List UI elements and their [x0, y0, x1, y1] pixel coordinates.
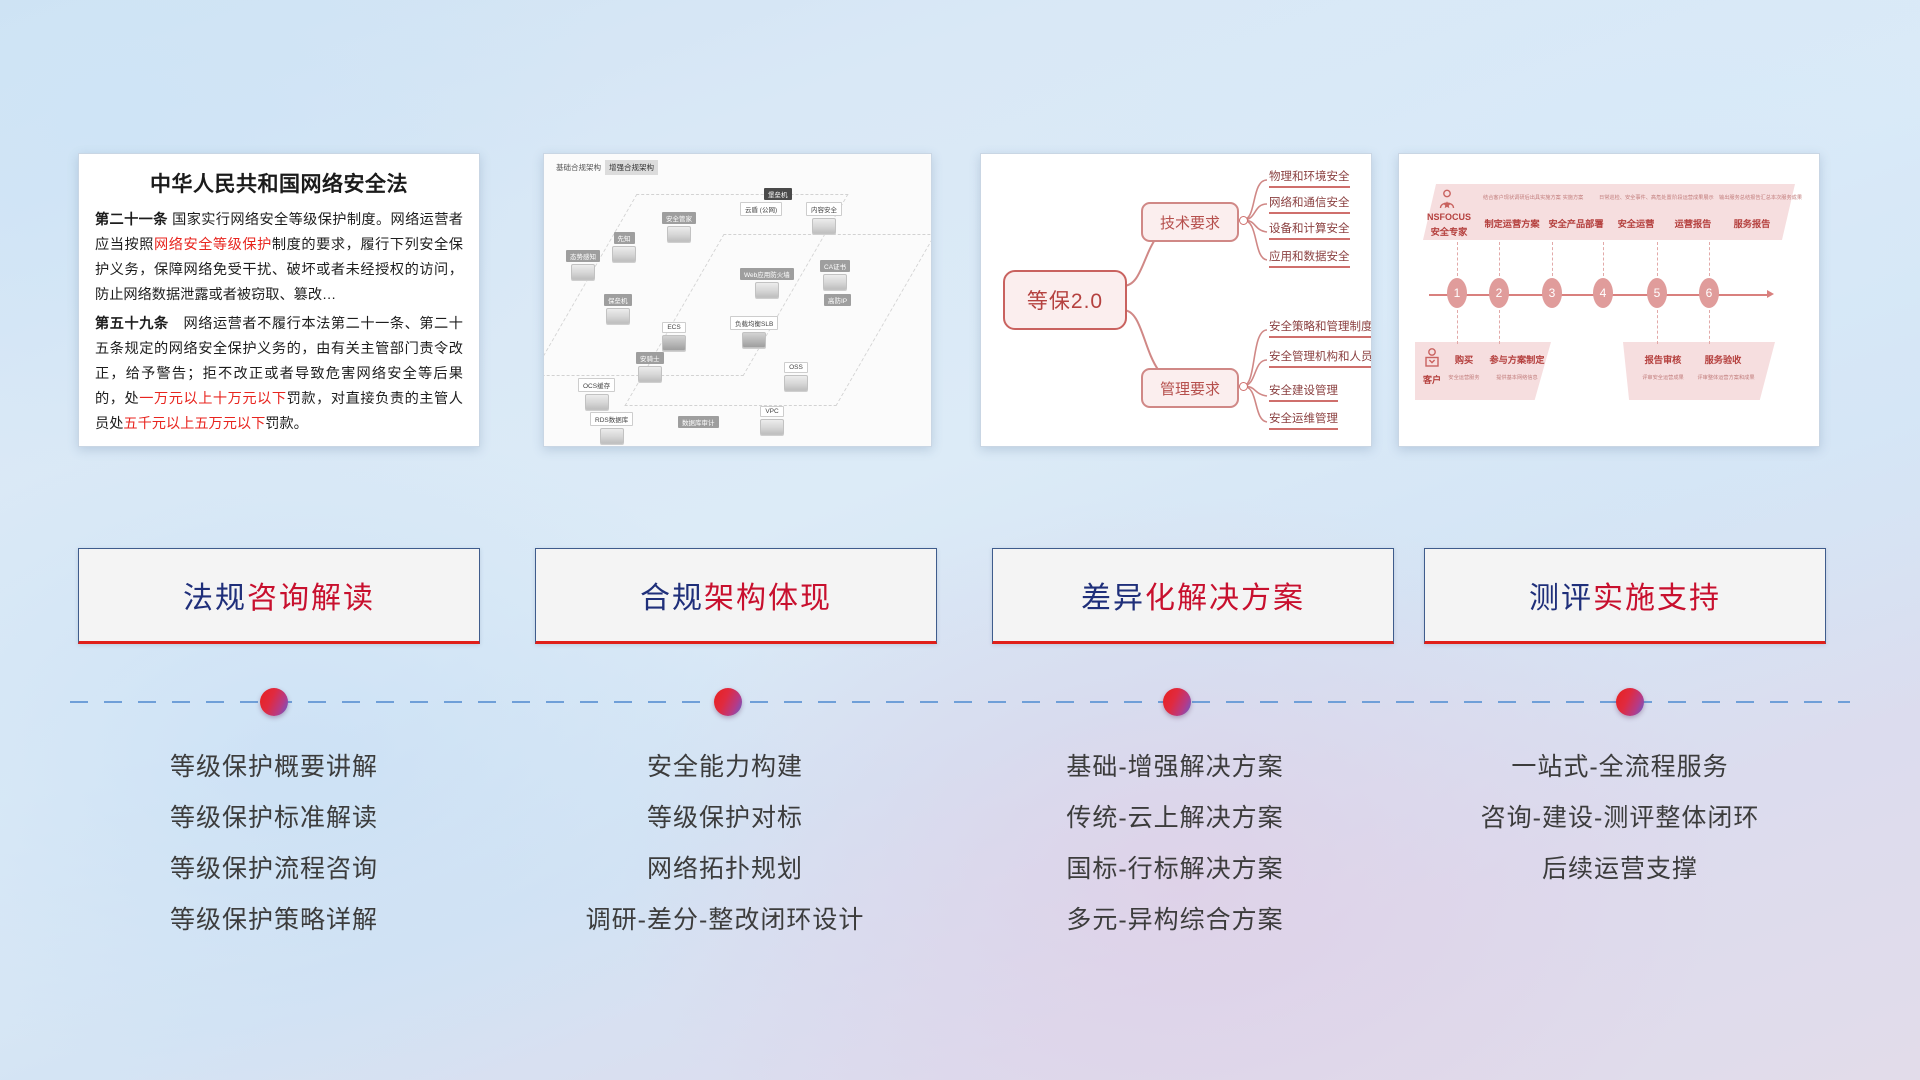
list-item: 后续运营支撑	[1400, 844, 1840, 895]
timeline-tick	[1457, 310, 1458, 344]
title-prefix: 法规	[183, 582, 247, 615]
law-article-59-highlight-2: 五千元以上五万元以下	[123, 416, 265, 432]
cube-icon	[638, 366, 662, 382]
arch-node-xianzhi: 先知	[612, 232, 636, 262]
section-title-label: 测评实施支持	[1529, 573, 1721, 617]
timeline-tick	[1499, 310, 1500, 344]
timeline-top-label: 服务报告	[1727, 216, 1777, 230]
timeline-top-label: 安全运营	[1611, 216, 1661, 230]
arch-node-ocs-cache: OCS缓存	[578, 378, 615, 410]
title-suffix: 实施支持	[1593, 582, 1721, 615]
list-item: 等级保护标准解读	[54, 793, 494, 844]
arch-node-waf: Web应用防火墙	[740, 268, 794, 298]
timeline-step-node: 6	[1699, 278, 1719, 308]
arch-node-bastion-top: 堡垒机	[764, 188, 792, 200]
arch-node-situation-awareness: 态势感知	[566, 250, 600, 280]
timeline-tick	[1552, 242, 1553, 276]
timeline-bottom-label: 服务验收	[1699, 352, 1747, 366]
timeline-tick	[1457, 242, 1458, 276]
section-title-label: 合规架构体现	[640, 573, 832, 617]
section-title-label: 法规咨询解读	[183, 573, 375, 617]
section-title-assessment-support[interactable]: 测评实施支持	[1424, 548, 1826, 644]
law-article-21-label: 第二十一条	[95, 212, 168, 228]
law-title: 中华人民共和国网络安全法	[95, 168, 463, 198]
timeline-top-sub: 结合客户现状调研后出具实施方案	[1483, 194, 1541, 201]
arch-node-cloud-shield: 云盾 (公网)	[740, 202, 782, 216]
list-item: 咨询-建设-测评整体闭环	[1400, 793, 1840, 844]
mindmap-leaf: 安全管理机构和人员	[1269, 348, 1372, 368]
title-suffix: 咨询解读	[247, 582, 375, 615]
section-title-label: 差异化解决方案	[1081, 573, 1305, 617]
timeline-tick	[1709, 242, 1710, 276]
item-list-regulation-consulting: 等级保护概要讲解 等级保护标准解读 等级保护流程咨询 等级保护策略详解	[54, 742, 494, 946]
timeline-top-label: 运营报告	[1669, 216, 1717, 230]
list-item: 安全能力构建	[505, 742, 945, 793]
timeline-bottom-label: 报告审核	[1639, 352, 1687, 366]
arch-node-security-butler: 安全管家	[662, 212, 696, 242]
item-list-differentiated-solution: 基础-增强解决方案 传统-云上解决方案 国标-行标解决方案 多元-异构综合方案	[955, 742, 1395, 946]
mindmap-branch-technical: 技术要求	[1141, 202, 1239, 242]
timeline-top-sub: 阶段运营成果展示	[1665, 194, 1721, 201]
timeline-tick	[1499, 242, 1500, 276]
image-card-row: 中华人民共和国网络安全法 第二十一条 国家实行网络安全等级保护制度。网络运营者应…	[0, 0, 1920, 460]
timeline-tick	[1603, 242, 1604, 276]
section-title-differentiated-solution[interactable]: 差异化解决方案	[992, 548, 1394, 644]
timeline-step-node: 4	[1593, 278, 1613, 308]
title-prefix: 差异	[1081, 582, 1145, 615]
cube-icon	[600, 428, 624, 444]
card-law-document: 中华人民共和国网络安全法 第二十一条 国家实行网络安全等级保护制度。网络运营者应…	[78, 153, 480, 447]
arch-node-anti-ddos: 高防IP	[824, 294, 851, 306]
mindmap-leaf: 网络和通信安全	[1269, 194, 1350, 214]
slide-canvas: 中华人民共和国网络安全法 第二十一条 国家实行网络安全等级保护制度。网络运营者应…	[0, 0, 1920, 1080]
arch-node-slb: 负载均衡SLB	[730, 316, 778, 348]
list-item: 国标-行标解决方案	[955, 844, 1395, 895]
law-article-21: 第二十一条 国家实行网络安全等级保护制度。网络运营者应当按照网络安全等级保护制度…	[95, 208, 463, 308]
title-prefix: 测评	[1529, 582, 1593, 615]
mindmap-leaf: 安全建设管理	[1269, 382, 1338, 402]
timeline-step-node: 1	[1447, 278, 1467, 308]
cube-icon	[784, 375, 808, 391]
cube-icon	[585, 394, 609, 410]
timeline-bottom-label: 参与方案制定	[1485, 352, 1549, 366]
section-title-regulation-consulting[interactable]: 法规咨询解读	[78, 548, 480, 644]
timeline-top-label: 制定运营方案	[1483, 216, 1541, 230]
card-service-timeline: NSFOCUS 安全专家 结合客户现状调研后出具实施方案 实施方案 日常巡检、安…	[1398, 153, 1820, 447]
arch-node-content-security: 内容安全	[806, 202, 842, 234]
title-suffix: 架构体现	[704, 582, 832, 615]
section-title-row: 法规咨询解读 合规架构体现 差异化解决方案 测评实施支持	[0, 548, 1920, 648]
arch-node-db-audit: 数据库审计	[678, 416, 719, 428]
timeline-bottom-sub: 评审整体运营方案和成果	[1691, 374, 1761, 381]
law-document: 中华人民共和国网络安全法 第二十一条 国家实行网络安全等级保护制度。网络运营者应…	[79, 154, 479, 446]
timeline-dashed-line	[70, 700, 1850, 704]
timeline-bottom-sub: 提供基本网络信息	[1483, 374, 1551, 381]
mindmap-leaf: 应用和数据安全	[1269, 248, 1350, 268]
timeline-top-label: 安全产品部署	[1547, 216, 1605, 230]
list-item: 等级保护流程咨询	[54, 844, 494, 895]
arch-node-bastion-host: 保垒机	[604, 294, 632, 324]
timeline-tick	[1657, 310, 1658, 344]
mindmap-leaf: 安全运维管理	[1269, 410, 1338, 430]
list-item: 网络拓扑规划	[505, 844, 945, 895]
list-item: 多元-异构综合方案	[955, 895, 1395, 946]
item-list-assessment-support: 一站式-全流程服务 咨询-建设-测评整体闭环 后续运营支撑	[1400, 742, 1840, 895]
arch-node-anqishi: 安骑士	[636, 352, 664, 382]
timeline-arrow-icon	[1767, 290, 1774, 298]
law-article-59-highlight-1: 一万元以上十万元以下	[139, 391, 286, 407]
mindmap-collapse-icon[interactable]	[1239, 216, 1248, 225]
list-item: 等级保护对标	[505, 793, 945, 844]
timeline-top-sub: 日常巡检、安全事件、高危处置	[1599, 194, 1665, 201]
cube-icon	[571, 264, 595, 280]
timeline-bottom-sub: 评审安全运营成果	[1631, 374, 1695, 381]
section-title-compliance-architecture[interactable]: 合规架构体现	[535, 548, 937, 644]
law-article-59: 第五十九条 网络运营者不履行本法第二十一条、第二十五条规定的网络安全保护义务的，…	[95, 312, 463, 437]
cube-icon	[667, 226, 691, 242]
timeline-step-node: 3	[1542, 278, 1562, 308]
timeline-band-bottom-right	[1623, 342, 1775, 400]
service-timeline-diagram: NSFOCUS 安全专家 结合客户现状调研后出具实施方案 实施方案 日常巡检、安…	[1399, 154, 1819, 446]
item-list-compliance-architecture: 安全能力构建 等级保护对标 网络拓扑规划 调研-差分-整改闭环设计	[505, 742, 945, 946]
law-article-59-post: 罚款。	[265, 416, 308, 432]
arch-node-rds: RDS数据库	[590, 412, 633, 444]
cube-icon	[742, 332, 766, 348]
timeline-marker-3	[1163, 688, 1191, 716]
list-item: 等级保护概要讲解	[54, 742, 494, 793]
title-prefix: 合规	[640, 582, 704, 615]
tab-enhanced-architecture[interactable]: 增强合规架构	[605, 160, 658, 175]
timeline-marker-4	[1616, 688, 1644, 716]
timeline-tick	[1657, 242, 1658, 276]
expert-brand: NSFOCUS	[1423, 212, 1475, 222]
mindmap-leaf: 物理和环境安全	[1269, 168, 1350, 188]
arch-node-vpc: VPC	[760, 406, 784, 435]
title-suffix: 化解决方案	[1145, 582, 1305, 615]
customer-avatar-icon	[1421, 346, 1443, 375]
arch-node-oss: OSS	[784, 362, 808, 391]
list-item: 一站式-全流程服务	[1400, 742, 1840, 793]
cube-icon	[612, 246, 636, 262]
architecture-tabs: 基础合规架构增强合规架构	[552, 160, 658, 175]
card-mindmap: 等保2.0 技术要求 物理和环境安全 网络和通信安全 设备和计算安全 应用和数据…	[980, 153, 1372, 447]
section-item-lists: 等级保护概要讲解 等级保护标准解读 等级保护流程咨询 等级保护策略详解 安全能力…	[0, 742, 1920, 992]
tab-basic-architecture[interactable]: 基础合规架构	[552, 160, 605, 175]
list-item: 等级保护策略详解	[54, 895, 494, 946]
law-article-21-highlight: 网络安全等级保护	[154, 237, 272, 253]
timeline-bottom-sub: 安全运营服务	[1443, 374, 1485, 381]
timeline-top-sub: 输出服务总结报告汇总本次服务成果	[1719, 194, 1793, 201]
mindmap-leaf: 设备和计算安全	[1269, 220, 1350, 240]
cube-icon	[823, 274, 847, 290]
cube-icon	[662, 335, 686, 351]
timeline-tick	[1709, 310, 1710, 344]
expert-role: 安全专家	[1423, 224, 1475, 238]
mindmap-branch-management: 管理要求	[1141, 368, 1239, 408]
mindmap-collapse-icon[interactable]	[1239, 382, 1248, 391]
timeline-top-sub: 实施方案	[1549, 194, 1597, 201]
timeline-marker-1	[260, 688, 288, 716]
list-item: 传统-云上解决方案	[955, 793, 1395, 844]
law-article-59-label: 第五十九条	[95, 316, 169, 332]
list-item: 调研-差分-整改闭环设计	[505, 895, 945, 946]
card-cloud-architecture: 基础合规架构增强合规架构 堡垒机 安全管家 先知 态势感知 保垒机	[543, 153, 932, 447]
timeline-bottom-label: 购买	[1447, 352, 1481, 366]
arch-node-ca-cert: CA证书	[820, 260, 850, 290]
cube-icon	[755, 282, 779, 298]
arch-node-ecs: ECS	[662, 322, 686, 351]
timeline-step-node: 2	[1489, 278, 1509, 308]
cloud-architecture-diagram: 基础合规架构增强合规架构 堡垒机 安全管家 先知 态势感知 保垒机	[544, 154, 931, 446]
timeline-marker-2	[714, 688, 742, 716]
timeline-band-top	[1423, 184, 1795, 240]
mindmap-root: 等保2.0	[1003, 270, 1127, 330]
mindmap-diagram: 等保2.0 技术要求 物理和环境安全 网络和通信安全 设备和计算安全 应用和数据…	[981, 154, 1371, 446]
mindmap-leaf: 安全策略和管理制度	[1269, 318, 1372, 338]
cube-icon	[760, 419, 784, 435]
cube-icon	[606, 308, 630, 324]
list-item: 基础-增强解决方案	[955, 742, 1395, 793]
timeline-step-node: 5	[1647, 278, 1667, 308]
cube-icon	[812, 218, 836, 234]
